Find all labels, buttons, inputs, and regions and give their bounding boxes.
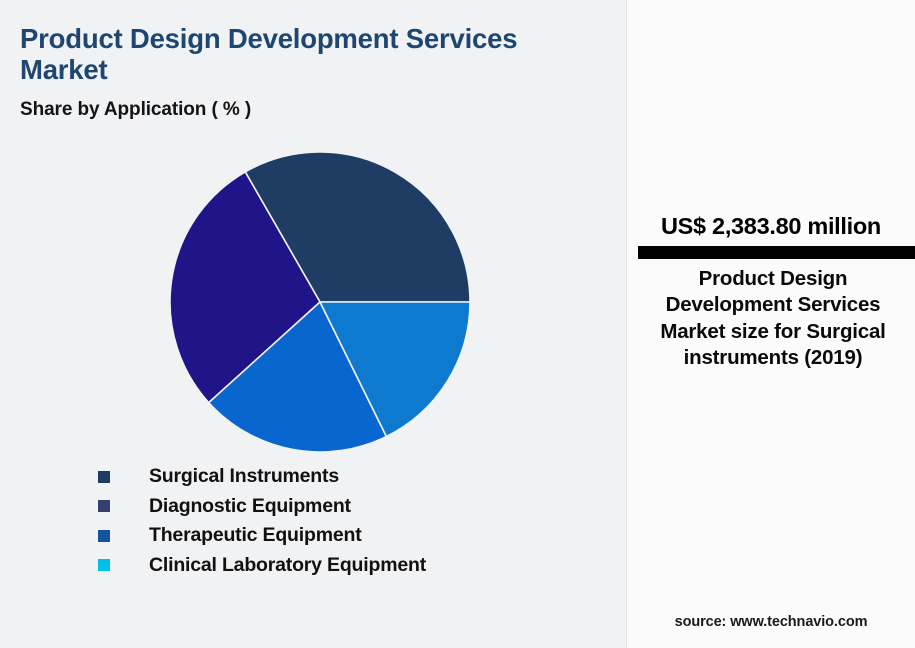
legend-item-clinical-laboratory-equipment[interactable]: Clinical Laboratory Equipment [98,553,426,578]
kpi-underline-rule [638,246,915,259]
pie-slice-group [170,152,470,452]
kpi-caption: Product Design Development Services Mark… [651,266,895,372]
legend-swatch-icon [98,559,110,571]
legend-item-label: Therapeutic Equipment [149,524,362,547]
page-title: Product Design Development Services Mark… [20,23,520,85]
legend-item-label: Clinical Laboratory Equipment [149,554,426,577]
pie-chart [170,152,470,452]
kpi-panel: US$ 2,383.80 million Product Design Deve… [627,0,915,648]
source-note: source: www.technavio.com [627,614,915,630]
legend-item-surgical-instruments[interactable]: Surgical Instruments [98,464,426,489]
legend-swatch-icon [98,500,110,512]
chart-legend: Surgical Instruments Diagnostic Equipmen… [98,464,426,578]
legend-swatch-icon [98,471,110,483]
legend-item-diagnostic-equipment[interactable]: Diagnostic Equipment [98,494,426,519]
legend-item-label: Surgical Instruments [149,465,339,488]
chart-panel: Product Design Development Services Mark… [0,0,626,648]
kpi-value: US$ 2,383.80 million [627,213,915,240]
legend-item-therapeutic-equipment[interactable]: Therapeutic Equipment [98,523,426,548]
chart-page: Product Design Development Services Mark… [0,0,915,648]
legend-swatch-icon [98,530,110,542]
legend-item-label: Diagnostic Equipment [149,495,351,518]
chart-subtitle: Share by Application ( % ) [20,99,251,121]
